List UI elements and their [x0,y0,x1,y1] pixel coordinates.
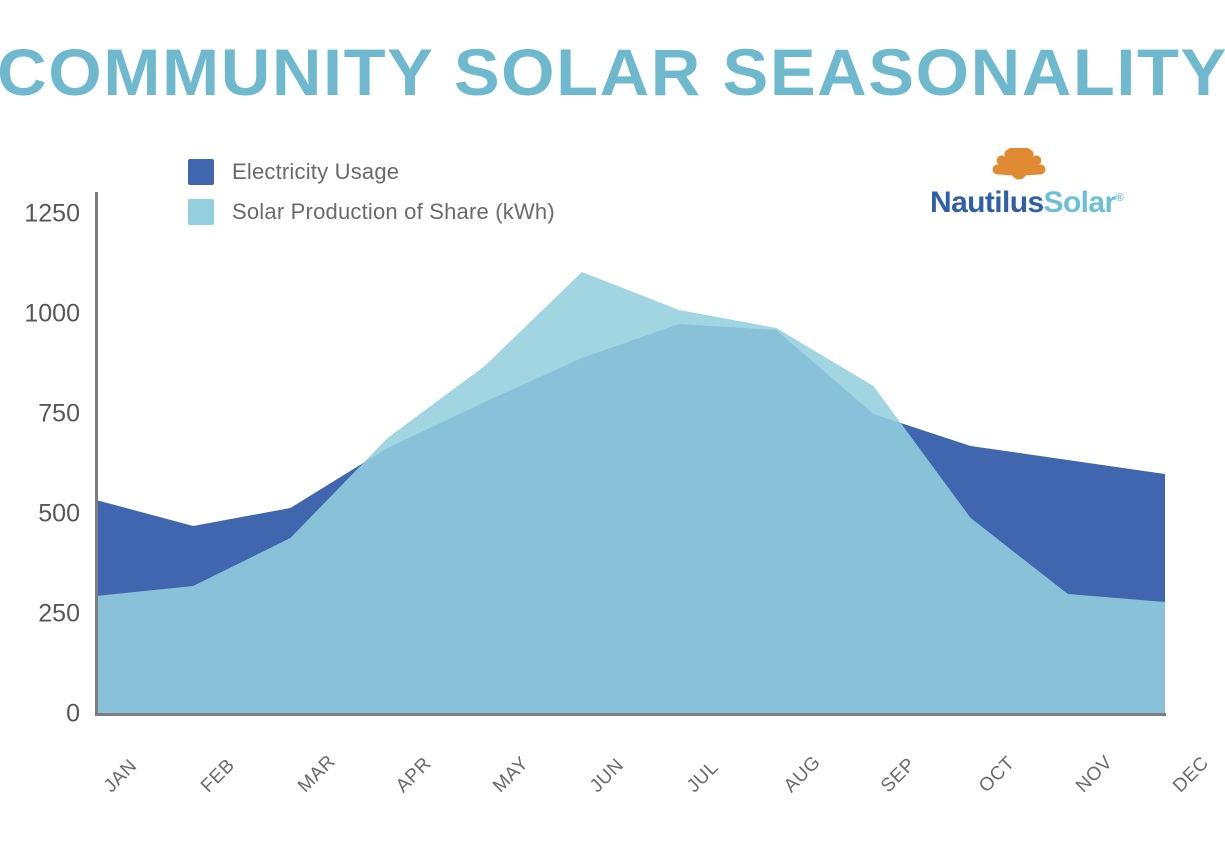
y-axis-tick-label: 250 [2,600,80,629]
chart-areas [96,272,1165,714]
y-axis-tick-label: 1000 [2,300,80,329]
chart-card: COMMUNITY SOLAR SEASONALITY Electricity … [0,0,1225,855]
y-axis-tick-labels: 025050075010001250 [0,0,80,855]
area-chart-plot: 025050075010001250 JANFEBMARAPRMAYJUNJUL… [0,0,1225,855]
y-axis-tick-label: 500 [2,500,80,529]
y-axis-tick-label: 750 [2,400,80,429]
y-axis-tick-label: 1250 [2,200,80,229]
y-axis-tick-label: 0 [2,700,80,729]
chart-svg [0,0,1225,855]
